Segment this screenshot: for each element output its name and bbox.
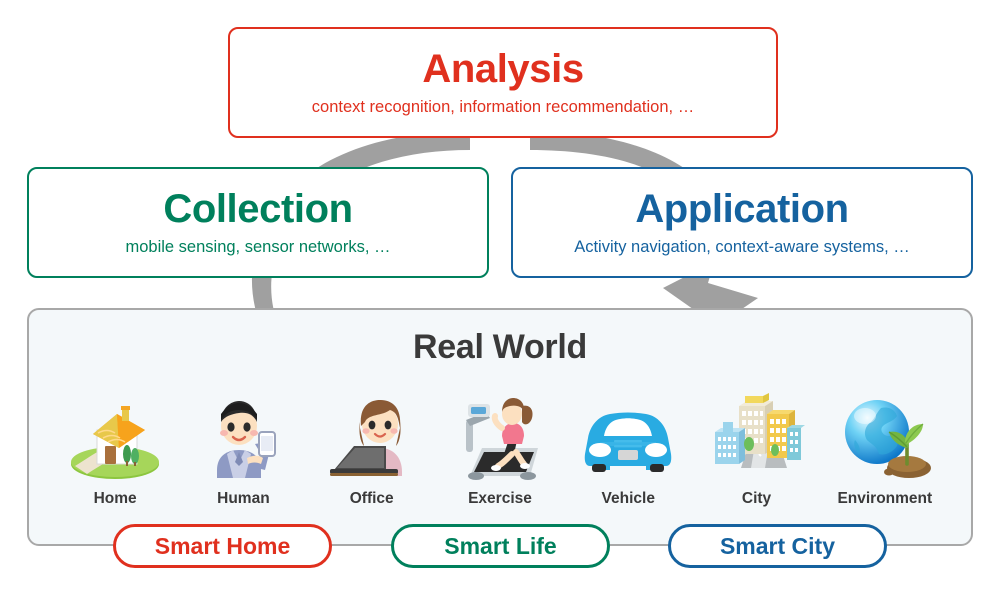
- woman-at-laptop-icon: [324, 392, 420, 484]
- domain-label-city: City: [742, 490, 771, 508]
- treadmill-runner-icon: [452, 392, 548, 484]
- badge-smart-city[interactable]: Smart City: [668, 524, 887, 568]
- badge-smart-home[interactable]: Smart Home: [113, 524, 332, 568]
- domain-item-exercise[interactable]: Exercise: [436, 392, 564, 508]
- car-front-icon: [580, 392, 676, 484]
- domain-item-environment[interactable]: Environment: [821, 392, 949, 508]
- domain-item-office[interactable]: Office: [308, 392, 436, 508]
- domain-icon-row: Home: [51, 376, 949, 508]
- house-icon: [67, 392, 163, 484]
- real-world-panel: Real World: [27, 308, 973, 546]
- domain-label-environment: Environment: [837, 490, 932, 508]
- badge-smart-life[interactable]: Smart Life: [391, 524, 610, 568]
- person-with-smartphone-icon: [195, 392, 291, 484]
- domain-item-city[interactable]: City: [692, 392, 820, 508]
- badge-smart-home-label: Smart Home: [155, 533, 290, 560]
- process-box-analysis[interactable]: Analysis context recognition, informatio…: [228, 27, 778, 138]
- collection-title: Collection: [163, 189, 352, 229]
- domain-label-human: Human: [217, 490, 270, 508]
- domain-label-exercise: Exercise: [468, 490, 532, 508]
- analysis-subtitle: context recognition, information recomme…: [312, 98, 694, 116]
- application-title: Application: [635, 189, 848, 229]
- badge-smart-city-label: Smart City: [720, 533, 835, 560]
- domain-item-human[interactable]: Human: [179, 392, 307, 508]
- process-box-application[interactable]: Application Activity navigation, context…: [511, 167, 973, 278]
- badge-smart-life-label: Smart Life: [444, 533, 556, 560]
- domain-item-vehicle[interactable]: Vehicle: [564, 392, 692, 508]
- domain-label-vehicle: Vehicle: [602, 490, 655, 508]
- domain-label-home: Home: [94, 490, 137, 508]
- city-buildings-icon: [709, 392, 805, 484]
- process-box-collection[interactable]: Collection mobile sensing, sensor networ…: [27, 167, 489, 278]
- collection-subtitle: mobile sensing, sensor networks, …: [125, 238, 390, 256]
- domain-item-home[interactable]: Home: [51, 392, 179, 508]
- page-title: Real World: [29, 328, 971, 367]
- diagram-canvas: Analysis context recognition, informatio…: [0, 0, 1000, 600]
- application-subtitle: Activity navigation, context-aware syste…: [574, 238, 910, 256]
- domain-label-office: Office: [350, 490, 394, 508]
- globe-with-sprout-icon: [837, 392, 933, 484]
- analysis-title: Analysis: [422, 49, 583, 89]
